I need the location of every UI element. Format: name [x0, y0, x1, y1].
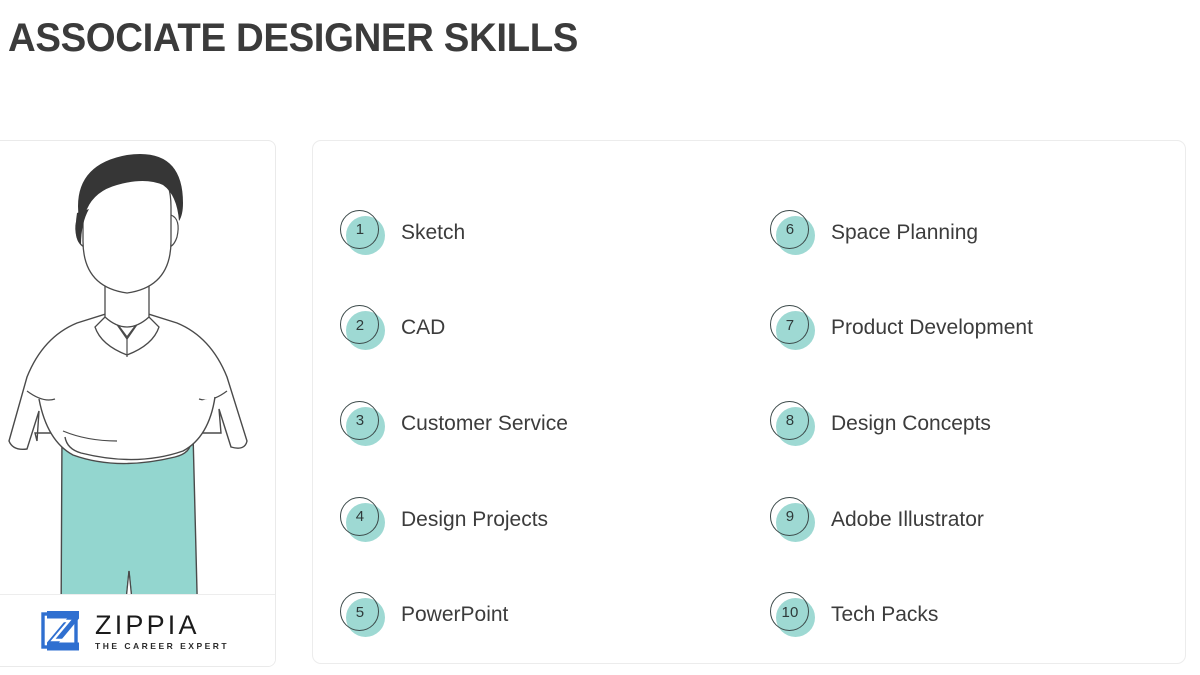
- badge-number: 9: [769, 496, 811, 538]
- skill-label: CAD: [401, 315, 445, 341]
- skills-columns: 1 Sketch 2 CAD 3 Customer Service: [313, 141, 1185, 663]
- page-title: ASSOCIATE DESIGNER SKILLS: [8, 14, 578, 62]
- badge-number: 2: [339, 304, 381, 346]
- skill-item: 10 Tech Packs: [769, 567, 1185, 663]
- skill-label: Customer Service: [401, 411, 568, 437]
- skill-number-badge: 5: [339, 591, 387, 639]
- skill-item: 5 PowerPoint: [339, 567, 749, 663]
- skill-item: 7 Product Development: [769, 281, 1185, 377]
- skill-number-badge: 3: [339, 400, 387, 448]
- badge-number: 7: [769, 304, 811, 346]
- skill-label: Design Concepts: [831, 411, 991, 437]
- skill-item: 1 Sketch: [339, 185, 749, 281]
- skill-label: Product Development: [831, 315, 1033, 341]
- skill-number-badge: 10: [769, 591, 817, 639]
- badge-number: 8: [769, 400, 811, 442]
- skill-number-badge: 7: [769, 304, 817, 352]
- skill-item: 2 CAD: [339, 281, 749, 377]
- skill-label: Adobe Illustrator: [831, 507, 984, 533]
- skills-column-right: 6 Space Planning 7 Product Development 8: [749, 141, 1185, 663]
- skill-label: Space Planning: [831, 220, 978, 246]
- zippia-logo: ZIPPIA THE CAREER EXPERT: [0, 594, 276, 666]
- skill-item: 3 Customer Service: [339, 376, 749, 472]
- skill-number-badge: 8: [769, 400, 817, 448]
- skill-label: PowerPoint: [401, 602, 508, 628]
- badge-number: 4: [339, 496, 381, 538]
- skill-label: Tech Packs: [831, 602, 938, 628]
- skill-number-badge: 2: [339, 304, 387, 352]
- skill-item: 8 Design Concepts: [769, 376, 1185, 472]
- skill-item: 9 Adobe Illustrator: [769, 472, 1185, 568]
- skill-label: Sketch: [401, 220, 465, 246]
- badge-number: 5: [339, 591, 381, 633]
- badge-number: 10: [769, 591, 811, 633]
- skill-item: 4 Design Projects: [339, 472, 749, 568]
- zippia-z-mark-icon: [39, 609, 83, 653]
- skill-number-badge: 6: [769, 209, 817, 257]
- skills-card: 1 Sketch 2 CAD 3 Customer Service: [312, 140, 1186, 664]
- skills-column-left: 1 Sketch 2 CAD 3 Customer Service: [313, 141, 749, 663]
- skill-number-badge: 1: [339, 209, 387, 257]
- skill-label: Design Projects: [401, 507, 548, 533]
- zippia-tagline: THE CAREER EXPERT: [95, 640, 229, 652]
- skill-number-badge: 9: [769, 496, 817, 544]
- badge-number: 6: [769, 209, 811, 251]
- skill-item: 6 Space Planning: [769, 185, 1185, 281]
- person-illustration: [0, 141, 276, 631]
- skill-number-badge: 4: [339, 496, 387, 544]
- badge-number: 1: [339, 209, 381, 251]
- zippia-wordmark: ZIPPIA: [95, 611, 229, 639]
- badge-number: 3: [339, 400, 381, 442]
- illustration-card: ZIPPIA THE CAREER EXPERT: [0, 140, 276, 667]
